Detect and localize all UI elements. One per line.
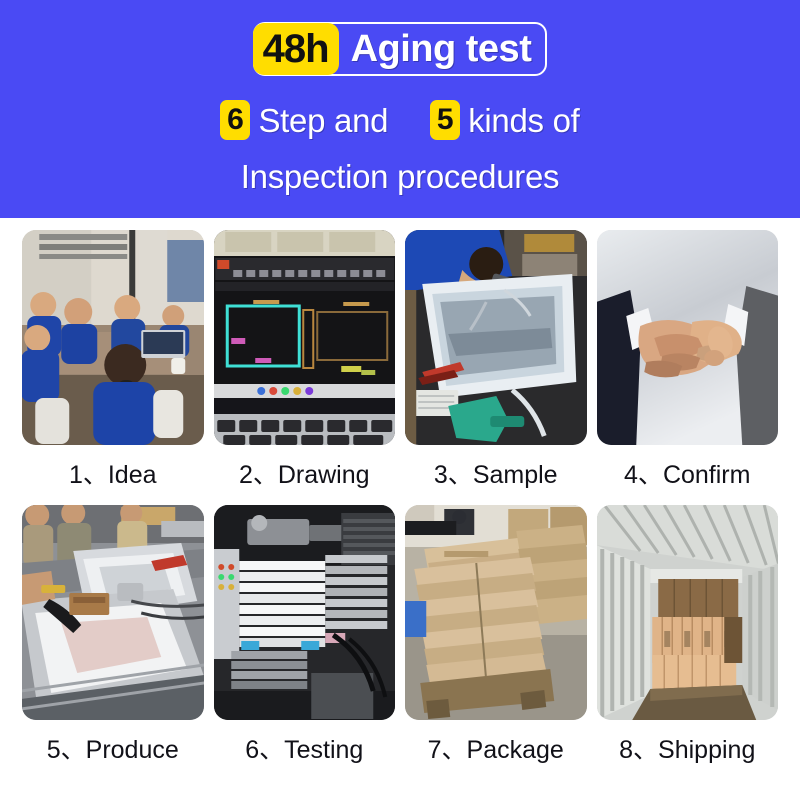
step-label: Package (467, 736, 564, 764)
team-meeting-photo (22, 230, 204, 445)
step-count-label: Step and (258, 104, 388, 137)
badge-kinds-count: 5 (430, 100, 460, 140)
stacked-panels-testing-photo (214, 505, 396, 720)
step-count-phrase: 6 Step and (220, 100, 388, 140)
step-number: 7、 (428, 736, 467, 764)
production-line-photo (22, 505, 204, 720)
step-number: 1、 (69, 461, 108, 489)
aging-test-title: Aging test (351, 30, 532, 68)
aging-test-headline: 48h Aging test (253, 22, 548, 76)
handshake-photo (597, 230, 779, 445)
step-label: Testing (284, 736, 363, 764)
cad-drawing-laptop-photo (214, 230, 396, 445)
step-caption: 1、Idea (69, 455, 157, 491)
step-card-drawing: 2、Drawing (214, 230, 396, 505)
step-number: 5、 (47, 736, 86, 764)
step-caption: 2、Drawing (239, 455, 370, 491)
cartons-on-pallet-photo (405, 505, 587, 720)
step-caption: 6、Testing (245, 730, 363, 766)
step-number: 2、 (239, 461, 278, 489)
product-process-infographic: 48h Aging test 6 Step and 5 kinds of Ins… (0, 0, 800, 800)
step-label: Drawing (278, 461, 370, 489)
step-label: Sample (473, 461, 558, 489)
step-card-package: 7、Package (405, 505, 587, 780)
step-card-idea: 1、Idea (22, 230, 204, 505)
step-card-testing: 6、Testing (214, 505, 396, 780)
step-number: 6、 (245, 736, 284, 764)
kinds-count-phrase: 5 kinds of (430, 100, 579, 140)
badge-48h: 48h (253, 23, 339, 75)
banner-header: 48h Aging test 6 Step and 5 kinds of Ins… (0, 0, 800, 218)
kinds-count-label: kinds of (468, 104, 579, 137)
step-card-sample: 3、Sample (405, 230, 587, 505)
step-label: Idea (108, 461, 157, 489)
process-steps-grid: 1、Idea (0, 218, 800, 780)
step-label: Shipping (658, 736, 755, 764)
step-caption: 8、Shipping (619, 730, 755, 766)
step-label: Produce (86, 736, 179, 764)
worker-assembling-panel-photo (405, 230, 587, 445)
step-number: 4、 (624, 461, 663, 489)
step-number: 3、 (434, 461, 473, 489)
step-card-shipping: 8、Shipping (597, 505, 779, 780)
step-label: Confirm (663, 461, 751, 489)
step-card-confirm: 4、Confirm (597, 230, 779, 505)
steps-kinds-headline: 6 Step and 5 kinds of (220, 100, 579, 140)
loaded-container-photo (597, 505, 779, 720)
step-caption: 5、Produce (47, 730, 179, 766)
step-card-produce: 5、Produce (22, 505, 204, 780)
inspection-procedures-label: Inspection procedures (241, 160, 559, 193)
step-number: 8、 (619, 736, 658, 764)
step-caption: 3、Sample (434, 455, 558, 491)
badge-step-count: 6 (220, 100, 250, 140)
step-caption: 7、Package (428, 730, 564, 766)
step-caption: 4、Confirm (624, 455, 750, 491)
